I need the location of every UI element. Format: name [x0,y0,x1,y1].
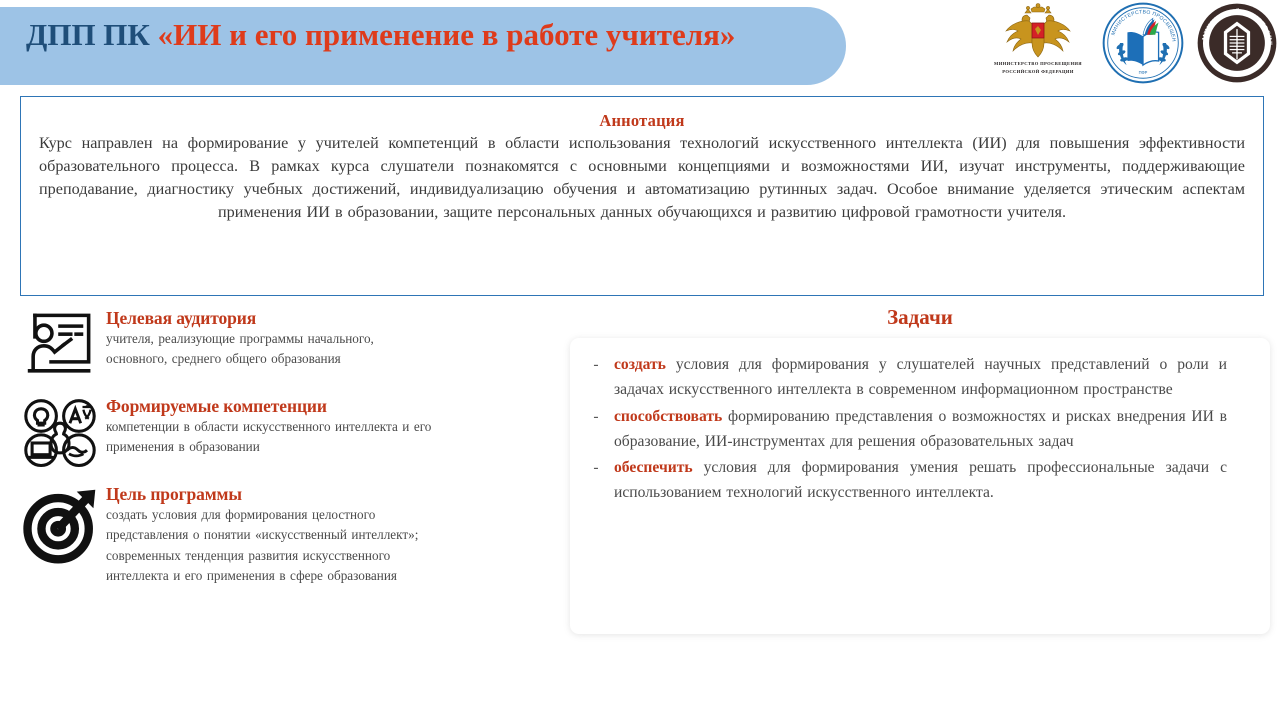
annotation-box: Аннотация Курс направлен на формирование… [20,96,1264,296]
prosveshchenie-emblem-logo: МИНИСТЕРСТВО ПРОСВЕЩЕНИЯ [1102,2,1186,84]
task-text: обеспечить условия для формирования умен… [614,455,1227,506]
page-title: ДПП ПК «ИИ и его применение в работе учи… [26,16,826,53]
task-bullet: - [578,455,614,480]
info-heading-target-audience: Целевая аудитория [106,308,436,328]
competencies-network-icon [14,394,106,472]
task-item: - создать условия для формирования у слу… [578,352,1252,403]
task-bullet: - [578,404,614,429]
tasks-heading: Задачи [570,305,1270,330]
ministry-caption-line2: РОССИЙСКОЙ ФЕДЕРАЦИИ [984,69,1092,76]
task-rest: условия для формирования умения решать п… [614,459,1227,501]
double-headed-eagle-icon [984,2,1092,60]
logo-row: МИНИСТЕРСТВО ПРОСВЕЩЕНИЯ РОССИЙСКОЙ ФЕДЕ… [980,2,1280,88]
task-lead-word: обеспечить [614,459,693,476]
task-lead-word: способствовать [614,408,722,425]
tasks-panel: - создать условия для формирования у слу… [570,338,1270,634]
task-item: - обеспечить условия для формирования ум… [578,455,1252,506]
svg-text:ПФР: ПФР [1139,70,1148,75]
task-text: создать условия для формирования у слуша… [614,352,1227,403]
info-block-competencies: Формируемые компетенции компетенции в об… [14,394,474,472]
info-blocks-column: Целевая аудитория учителя, реализующие п… [14,306,474,596]
annotation-text: Курс направлен на формирование у учителе… [39,132,1245,224]
info-heading-program-goal: Цель программы [106,484,436,504]
mininsky-university-logo: МИНИНСКИЙ УНИВЕРСИТЕТ 1911 [1196,2,1280,84]
open-book-circle-icon: МИНИСТЕРСТВО ПРОСВЕЩЕНИЯ [1102,2,1184,84]
target-bullseye-icon [14,482,106,560]
task-text: способствовать формированию представлени… [614,404,1227,455]
ministry-caption-line1: МИНИСТЕРСТВО ПРОСВЕЩЕНИЯ [984,61,1092,68]
info-desc-program-goal: создать условия для формирования целостн… [106,505,436,586]
page-title-prefix: ДПП ПК [26,17,158,52]
info-heading-competencies: Формируемые компетенции [106,396,436,416]
info-desc-target-audience: учителя, реализующие программы начальног… [106,329,436,370]
page-title-quoted: «ИИ и его применение в работе учителя» [158,17,736,52]
ministry-emblem-logo: МИНИСТЕРСТВО ПРОСВЕЩЕНИЯ РОССИЙСКОЙ ФЕДЕ… [984,2,1092,75]
annotation-title: Аннотация [39,111,1245,131]
task-item: - способствовать формированию представле… [578,404,1252,455]
task-bullet: - [578,352,614,377]
info-desc-competencies: компетенции в области искусственного инт… [106,417,436,458]
task-lead-word: создать [614,356,666,373]
info-block-target-audience: Целевая аудитория учителя, реализующие п… [14,306,474,384]
teacher-presentation-icon [14,306,106,384]
university-seal-icon: МИНИНСКИЙ УНИВЕРСИТЕТ 1911 [1196,2,1278,84]
task-rest: условия для формирования у слушателей на… [614,356,1227,398]
info-block-program-goal: Цель программы создать условия для форми… [14,482,474,586]
